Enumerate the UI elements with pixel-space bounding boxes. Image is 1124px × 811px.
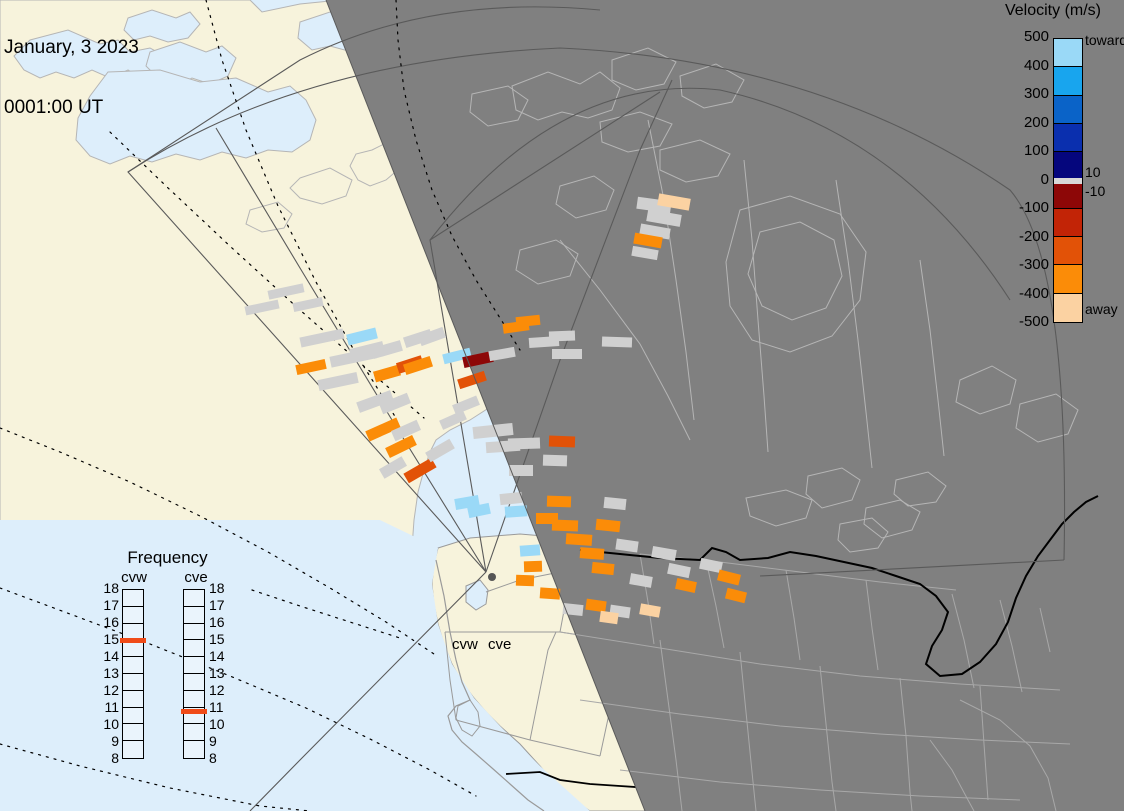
colorbar-toward-label: toward bbox=[1085, 32, 1124, 48]
colorbar-swatch-1 bbox=[1054, 67, 1082, 95]
frequency-cell bbox=[123, 657, 143, 674]
frequency-panel: Frequency cvw cve 18171615141312111098 1… bbox=[95, 545, 240, 795]
frequency-title: Frequency bbox=[95, 548, 240, 568]
colorbar-tick--400: -400 bbox=[1001, 285, 1049, 302]
colorbar-tick-labels: 5004003002001000-100-200-300-400-500 bbox=[993, 0, 1049, 340]
frequency-tick-cve-14: 14 bbox=[209, 648, 231, 664]
frequency-cell bbox=[184, 640, 204, 657]
frequency-tick-cve-9: 9 bbox=[209, 733, 231, 749]
colorbar-swatch-0 bbox=[1054, 39, 1082, 67]
frequency-bar-cvw bbox=[122, 589, 144, 759]
velocity-cell bbox=[552, 349, 582, 359]
frequency-tick-cvw-13: 13 bbox=[97, 665, 119, 681]
colorbar-swatch-8 bbox=[1054, 265, 1082, 293]
velocity-cell bbox=[566, 533, 593, 546]
frequency-cell bbox=[184, 624, 204, 641]
frequency-cell bbox=[123, 590, 143, 607]
velocity-cell bbox=[516, 575, 534, 587]
velocity-cell bbox=[547, 496, 571, 508]
timestamp-time: 0001:00 UT bbox=[4, 98, 139, 118]
frequency-cell bbox=[184, 674, 204, 691]
velocity-cell bbox=[508, 437, 540, 449]
frequency-tick-cve-11: 11 bbox=[209, 699, 231, 715]
colorbar-tick-0: 0 bbox=[1001, 171, 1049, 188]
frequency-tick-cve-18: 18 bbox=[209, 580, 231, 596]
colorbar-neg-threshold: -10 bbox=[1085, 183, 1105, 199]
frequency-cell bbox=[123, 741, 143, 758]
colorbar-swatch-9 bbox=[1054, 294, 1082, 322]
frequency-tick-cvw-11: 11 bbox=[97, 699, 119, 715]
frequency-cell bbox=[123, 674, 143, 691]
timestamp: January, 3 2023 0001:00 UT bbox=[4, 0, 139, 158]
frequency-cell bbox=[123, 691, 143, 708]
frequency-bar-cve bbox=[183, 589, 205, 759]
frequency-tick-cve-13: 13 bbox=[209, 665, 231, 681]
frequency-tick-cvw-17: 17 bbox=[97, 597, 119, 613]
timestamp-date: January, 3 2023 bbox=[4, 38, 139, 58]
frequency-cell bbox=[123, 708, 143, 725]
colorbar-away-label: away bbox=[1085, 301, 1118, 317]
colorbar-swatch-3 bbox=[1054, 124, 1082, 152]
frequency-tick-cvw-10: 10 bbox=[97, 716, 119, 732]
velocity-cell bbox=[549, 436, 575, 448]
frequency-tick-cvw-14: 14 bbox=[97, 648, 119, 664]
colorbar-swatch-5 bbox=[1054, 180, 1082, 208]
frequency-tick-cvw-18: 18 bbox=[97, 580, 119, 596]
frequency-tick-cvw-9: 9 bbox=[97, 733, 119, 749]
velocity-cell bbox=[524, 561, 542, 573]
frequency-cell bbox=[184, 741, 204, 758]
velocity-cell bbox=[549, 331, 575, 342]
frequency-marker-cve bbox=[181, 709, 207, 714]
frequency-tick-cvw-8: 8 bbox=[97, 750, 119, 766]
frequency-tick-cve-8: 8 bbox=[209, 750, 231, 766]
fan-plot-canvas: January, 3 2023 0001:00 UT Velocity (m/s… bbox=[0, 0, 1124, 811]
velocity-colorbar: Velocity (m/s) 5004003002001000-100-200-… bbox=[975, 0, 1124, 340]
colorbar-swatch-7 bbox=[1054, 237, 1082, 265]
radar-label-cvw: cvw bbox=[452, 636, 478, 653]
frequency-tick-cve-16: 16 bbox=[209, 614, 231, 630]
frequency-tick-cve-12: 12 bbox=[209, 682, 231, 698]
velocity-cell bbox=[602, 336, 632, 347]
velocity-cell bbox=[552, 520, 578, 532]
velocity-cell bbox=[580, 547, 605, 560]
frequency-tick-cve-17: 17 bbox=[209, 597, 231, 613]
frequency-cell bbox=[184, 607, 204, 624]
velocity-cell bbox=[520, 544, 541, 556]
frequency-tick-cvw-16: 16 bbox=[97, 614, 119, 630]
frequency-cell bbox=[123, 607, 143, 624]
velocity-cell bbox=[603, 497, 626, 510]
colorbar-swatch-4 bbox=[1054, 152, 1082, 180]
colorbar-tick-300: 300 bbox=[1001, 85, 1049, 102]
colorbar-ground-scatter-band bbox=[1053, 178, 1083, 184]
colorbar-tick--500: -500 bbox=[1001, 313, 1049, 330]
radar-site-marker bbox=[488, 573, 496, 581]
frequency-tick-cvw-15: 15 bbox=[97, 631, 119, 647]
colorbar-swatch-6 bbox=[1054, 209, 1082, 237]
colorbar-tick-100: 100 bbox=[1001, 142, 1049, 159]
colorbar-tick-200: 200 bbox=[1001, 114, 1049, 131]
frequency-tick-cve-15: 15 bbox=[209, 631, 231, 647]
radar-label-cve: cve bbox=[488, 636, 511, 653]
velocity-cell bbox=[591, 562, 614, 575]
frequency-cell bbox=[123, 724, 143, 741]
colorbar-tick--200: -200 bbox=[1001, 228, 1049, 245]
frequency-tick-cve-10: 10 bbox=[209, 716, 231, 732]
colorbar-tick--100: -100 bbox=[1001, 199, 1049, 216]
frequency-cell bbox=[184, 691, 204, 708]
colorbar-tick-500: 500 bbox=[1001, 28, 1049, 45]
colorbar-pos-threshold: 10 bbox=[1085, 164, 1101, 180]
colorbar-swatch-2 bbox=[1054, 96, 1082, 124]
velocity-cell bbox=[499, 492, 522, 505]
frequency-tick-cvw-12: 12 bbox=[97, 682, 119, 698]
velocity-cell bbox=[505, 505, 528, 518]
frequency-marker-cvw bbox=[120, 638, 146, 643]
frequency-cell bbox=[184, 657, 204, 674]
colorbar-tick-400: 400 bbox=[1001, 57, 1049, 74]
velocity-cell bbox=[543, 455, 567, 467]
colorbar-tick--300: -300 bbox=[1001, 256, 1049, 273]
frequency-cell bbox=[184, 724, 204, 741]
frequency-cell bbox=[184, 590, 204, 607]
